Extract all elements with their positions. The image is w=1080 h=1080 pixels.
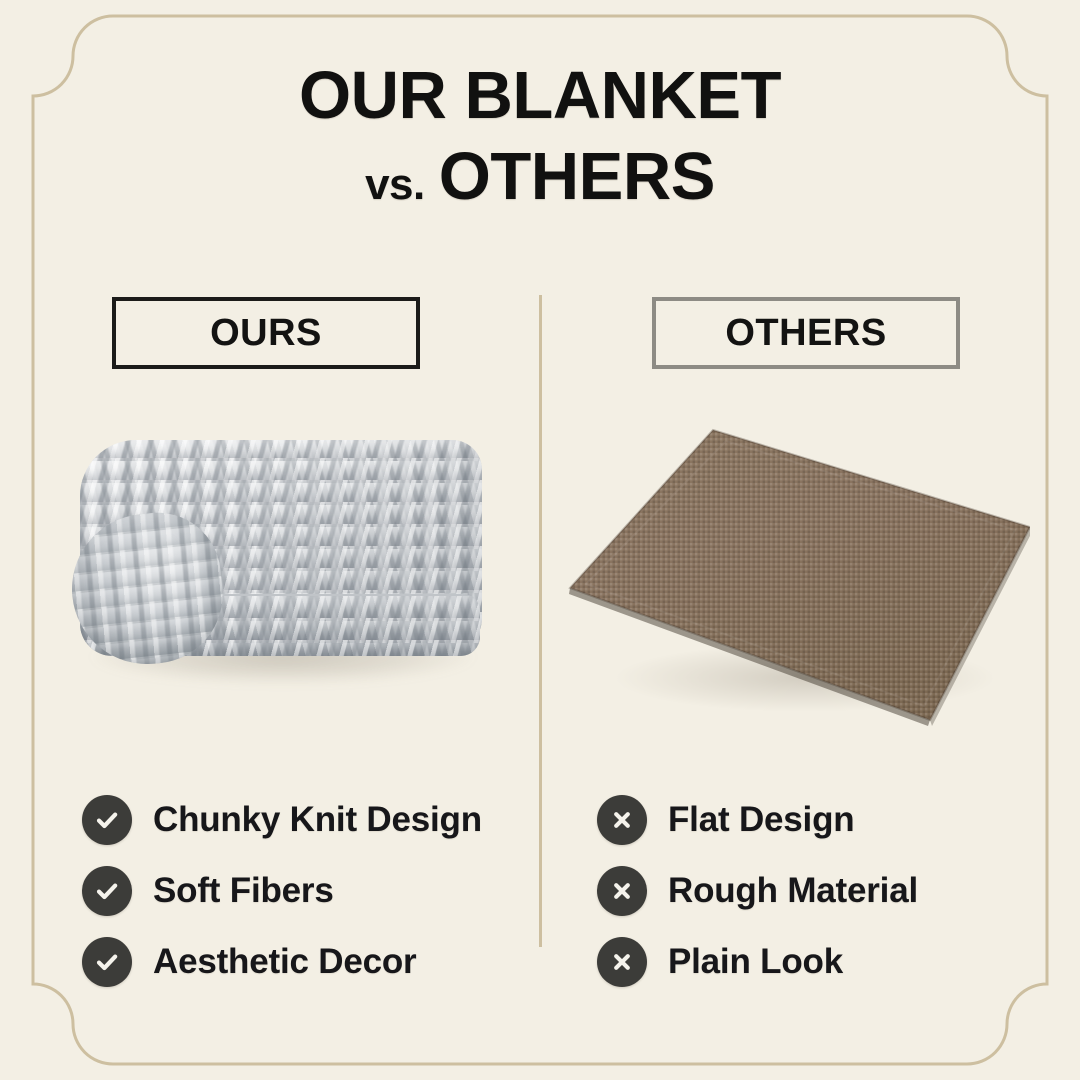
list-item-label: Flat Design bbox=[668, 800, 854, 840]
list-item-label: Chunky Knit Design bbox=[153, 800, 482, 840]
check-icon bbox=[82, 795, 132, 845]
x-icon bbox=[597, 795, 647, 845]
column-divider bbox=[539, 295, 542, 947]
feature-list-others: Flat Design Rough Material Plain Look bbox=[597, 785, 918, 998]
column-header-others: OTHERS bbox=[652, 297, 960, 369]
list-item-label: Plain Look bbox=[668, 942, 843, 982]
title-vs-text: vs. bbox=[365, 160, 425, 209]
list-item-label: Rough Material bbox=[668, 871, 918, 911]
list-item-label: Soft Fibers bbox=[153, 871, 334, 911]
list-item-label: Aesthetic Decor bbox=[153, 942, 416, 982]
flat-mat-illustration bbox=[560, 408, 1030, 738]
column-header-ours-label: OURS bbox=[210, 312, 322, 355]
comparison-infographic: OUR BLANKET vs.OTHERS OURS OTHERS bbox=[0, 0, 1080, 1080]
title-line-2: vs.OTHERS bbox=[0, 143, 1080, 210]
list-item: Flat Design bbox=[597, 785, 918, 855]
x-icon bbox=[597, 937, 647, 987]
list-item: Soft Fibers bbox=[82, 856, 482, 926]
product-image-others bbox=[560, 408, 1030, 738]
title-others-text: OTHERS bbox=[439, 139, 715, 214]
column-header-others-label: OTHERS bbox=[725, 312, 886, 355]
list-item: Chunky Knit Design bbox=[82, 785, 482, 855]
check-icon bbox=[82, 937, 132, 987]
feature-list-ours: Chunky Knit Design Soft Fibers Aesthetic… bbox=[82, 785, 482, 998]
column-header-ours: OURS bbox=[112, 297, 420, 369]
title-line-1: OUR BLANKET bbox=[0, 62, 1080, 129]
list-item: Plain Look bbox=[597, 927, 918, 997]
knit-blanket-illustration bbox=[66, 418, 496, 718]
blanket-rolled-end bbox=[65, 507, 230, 672]
list-item: Aesthetic Decor bbox=[82, 927, 482, 997]
x-icon bbox=[597, 866, 647, 916]
list-item: Rough Material bbox=[597, 856, 918, 926]
product-image-ours bbox=[48, 408, 518, 738]
page-title: OUR BLANKET vs.OTHERS bbox=[0, 62, 1080, 210]
check-icon bbox=[82, 866, 132, 916]
